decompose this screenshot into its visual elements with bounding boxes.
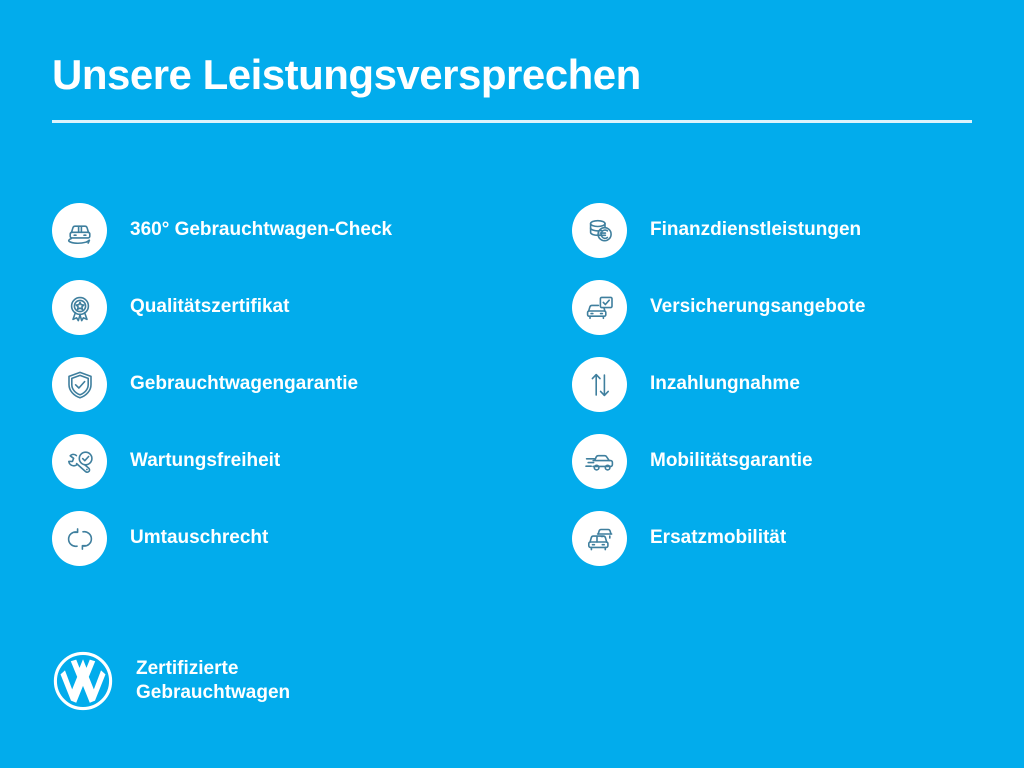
benefit-item-versicherungsangebote[interactable]: Versicherungsangebote xyxy=(572,280,972,335)
benefit-item-umtauschrecht[interactable]: Umtauschrecht xyxy=(52,511,572,566)
page-title: Unsere Leistungsversprechen xyxy=(52,52,972,98)
benefit-item-gebrauchtwagen-check[interactable]: 360° Gebrauchtwagen-Check xyxy=(52,203,572,258)
benefit-label: Mobilitätsgarantie xyxy=(650,450,813,473)
benefits-columns: 360° Gebrauchtwagen-Check Qualitätszerti… xyxy=(52,203,972,566)
benefit-label: Umtauschrecht xyxy=(130,527,268,550)
benefit-label: 360° Gebrauchtwagen-Check xyxy=(130,219,392,242)
benefit-item-wartungsfreiheit[interactable]: Wartungsfreiheit xyxy=(52,434,572,489)
header-divider xyxy=(52,120,972,123)
benefit-label: Versicherungsangebote xyxy=(650,296,865,319)
benefit-label: Finanzdienstleistungen xyxy=(650,219,861,242)
brand-line-1: Zertifizierte xyxy=(136,657,290,681)
benefit-label: Inzahlungnahme xyxy=(650,373,800,396)
two-cars-icon xyxy=(572,511,627,566)
award-rosette-icon xyxy=(52,280,107,335)
car-360-check-icon xyxy=(52,203,107,258)
benefit-item-finanzdienstleistungen[interactable]: Finanzdienstleistungen xyxy=(572,203,972,258)
brand-line-2: Gebrauchtwagen xyxy=(136,681,290,705)
benefit-label: Wartungsfreiheit xyxy=(130,450,280,473)
brand-text: Zertifizierte Gebrauchtwagen xyxy=(136,657,290,706)
benefit-label: Gebrauchtwagengarantie xyxy=(130,373,358,396)
car-document-check-icon xyxy=(572,280,627,335)
benefit-item-qualitaetszertifikat[interactable]: Qualitätszertifikat xyxy=(52,280,572,335)
benefits-right-column: Finanzdienstleistungen xyxy=(572,203,972,566)
benefit-item-inzahlungnahme[interactable]: Inzahlungnahme xyxy=(572,357,972,412)
benefit-item-mobilitaetsgarantie[interactable]: Mobilitätsgarantie xyxy=(572,434,972,489)
benefits-left-column: 360° Gebrauchtwagen-Check Qualitätszerti… xyxy=(52,203,572,566)
wrench-check-icon xyxy=(52,434,107,489)
benefit-item-gebrauchtwagengarantie[interactable]: Gebrauchtwagengarantie xyxy=(52,357,572,412)
volkswagen-logo-icon xyxy=(52,650,114,712)
brand-footer: Zertifizierte Gebrauchtwagen xyxy=(52,650,290,712)
leistungsversprechen-slide: Unsere Leistungsversprechen xyxy=(0,0,1024,768)
shield-check-icon xyxy=(52,357,107,412)
benefit-item-ersatzmobilitaet[interactable]: Ersatzmobilität xyxy=(572,511,972,566)
coins-euro-icon xyxy=(572,203,627,258)
car-motion-icon xyxy=(572,434,627,489)
arrows-up-down-icon xyxy=(572,357,627,412)
benefit-label: Ersatzmobilität xyxy=(650,527,786,550)
benefit-label: Qualitätszertifikat xyxy=(130,296,289,319)
exchange-arrows-icon xyxy=(52,511,107,566)
slide-header: Unsere Leistungsversprechen xyxy=(52,52,972,123)
